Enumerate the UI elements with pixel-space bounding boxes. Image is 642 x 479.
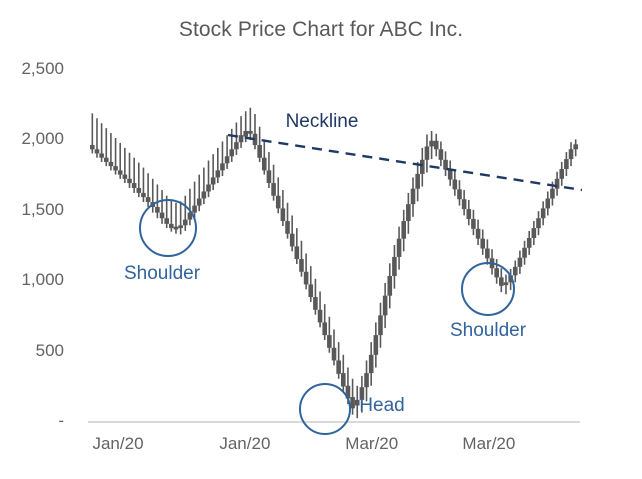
candlestick-body [462,199,467,209]
candlestick-body [471,219,476,229]
candlestick-body [485,249,490,259]
annotation-circle-left-shoulder [139,199,197,257]
candlestick-body [295,246,300,259]
candlestick-body [448,170,453,180]
candlestick-body [480,239,485,249]
stock-price-chart: Stock Price Chart for ABC Inc. -5001,000… [0,0,642,479]
candlestick-body [211,177,216,184]
candlestick-body [555,179,560,189]
candlestick-body [95,149,100,153]
candlestick-body [253,134,258,145]
candlestick-body [327,335,332,348]
candlestick-body [364,373,369,387]
candlestick-body [234,142,239,149]
candlestick-body [392,257,397,276]
candlestick-body [434,141,439,149]
candlestick-body [197,199,202,206]
candlestick-body [443,160,448,170]
neckline-dashed-line [228,135,582,190]
candlestick-body [411,189,416,204]
candlestick-body [243,131,248,137]
candlestick-body [216,170,221,177]
candlestick-body [99,153,104,157]
candlestick-body [564,159,569,169]
candlestick-body [299,259,304,272]
x-axis-tick-label: Jan/20 [219,434,270,454]
candlestick-body [406,204,411,221]
candlestick-body [378,315,383,335]
candlestick-body [123,175,128,179]
candlestick-body [290,234,295,247]
candlestick-body [518,258,523,267]
candlestick-body [271,183,276,196]
candlestick-body [522,248,527,258]
candlestick-body [466,209,471,219]
candlestick-body [276,196,281,209]
candlestick-body [369,355,374,373]
candlestick-body [202,191,207,198]
candlestick-body [109,162,114,166]
candlestick-body [559,169,564,179]
candlestick-body [336,360,341,373]
y-axis-tick-label: - [4,411,64,431]
candlestick-body [192,206,197,213]
candlestick-body [527,238,532,248]
candlestick-body [220,163,225,170]
candlestick-body [104,158,109,162]
candlestick-body [536,218,541,228]
candlestick-body [304,272,309,285]
candlestick-body [541,208,546,218]
candlestick-body [267,170,272,183]
candlestick-body [113,166,118,170]
candlestick-body [285,221,290,234]
candlestick-body [439,149,444,160]
annotation-label-right-shoulder: Shoulder [450,320,526,342]
candlestick-body [127,179,132,183]
annotation-circle-head [299,383,351,435]
candlestick-body [429,141,434,147]
candlestick-body [118,170,123,174]
candlestick-body [281,208,286,221]
candlestick-body [383,296,388,316]
candlestick-body [332,348,337,361]
annotation-lines [228,135,582,190]
candlestick-body [457,189,462,199]
candlestick-body [262,158,267,171]
candlestick-body [550,189,555,199]
y-axis-tick-label: 500 [4,341,64,361]
candlestick-body [476,229,481,239]
annotation-label-neckline: Neckline [286,111,359,133]
candlestick-body [206,184,211,191]
page-title: Stock Price Chart for ABC Inc. [0,18,642,42]
candlestick-body [257,145,262,158]
candlestick-body [545,199,550,209]
candlestick-body [132,183,137,188]
x-axis-tick-label: Mar/20 [345,434,398,454]
candlestick-body [341,373,346,386]
candlestick-body [569,149,574,159]
candlestick-body [415,174,420,189]
candlestick-body [387,276,392,296]
x-axis-tick-label: Jan/20 [92,434,143,454]
candlestick-body [420,160,425,174]
candlestick-body [322,322,327,335]
candlestick-body [239,135,244,142]
candlestick-body [225,156,230,163]
candlestick-body [137,188,142,193]
candlestick-body [318,310,323,323]
candlestick-body [146,197,151,202]
candlestick-body [313,297,318,310]
annotation-label-left-shoulder: Shoulder [124,263,200,285]
candlestick-body [573,144,578,149]
candlestick-body [374,335,379,355]
x-axis-tick-label: Mar/20 [462,434,515,454]
candlestick-body [308,284,313,297]
y-axis-tick-label: 2,000 [4,129,64,149]
candlestick-body [401,221,406,239]
y-axis-tick-label: 1,500 [4,200,64,220]
candlestick-body [513,267,518,275]
candlestick-body [90,145,95,149]
candlestick-body [425,146,430,159]
candlestick-body [141,193,146,197]
y-axis-tick-label: 2,500 [4,59,64,79]
candlestick-body [397,239,402,257]
candlestick-body [532,228,537,238]
candlestick-body [248,131,253,134]
annotation-circle-right-shoulder [461,262,515,316]
candlestick-body [350,397,355,408]
y-axis-tick-label: 1,000 [4,270,64,290]
candlestick-body [453,180,458,190]
candlestick-body [229,149,234,156]
annotation-label-head: Head [359,395,404,417]
